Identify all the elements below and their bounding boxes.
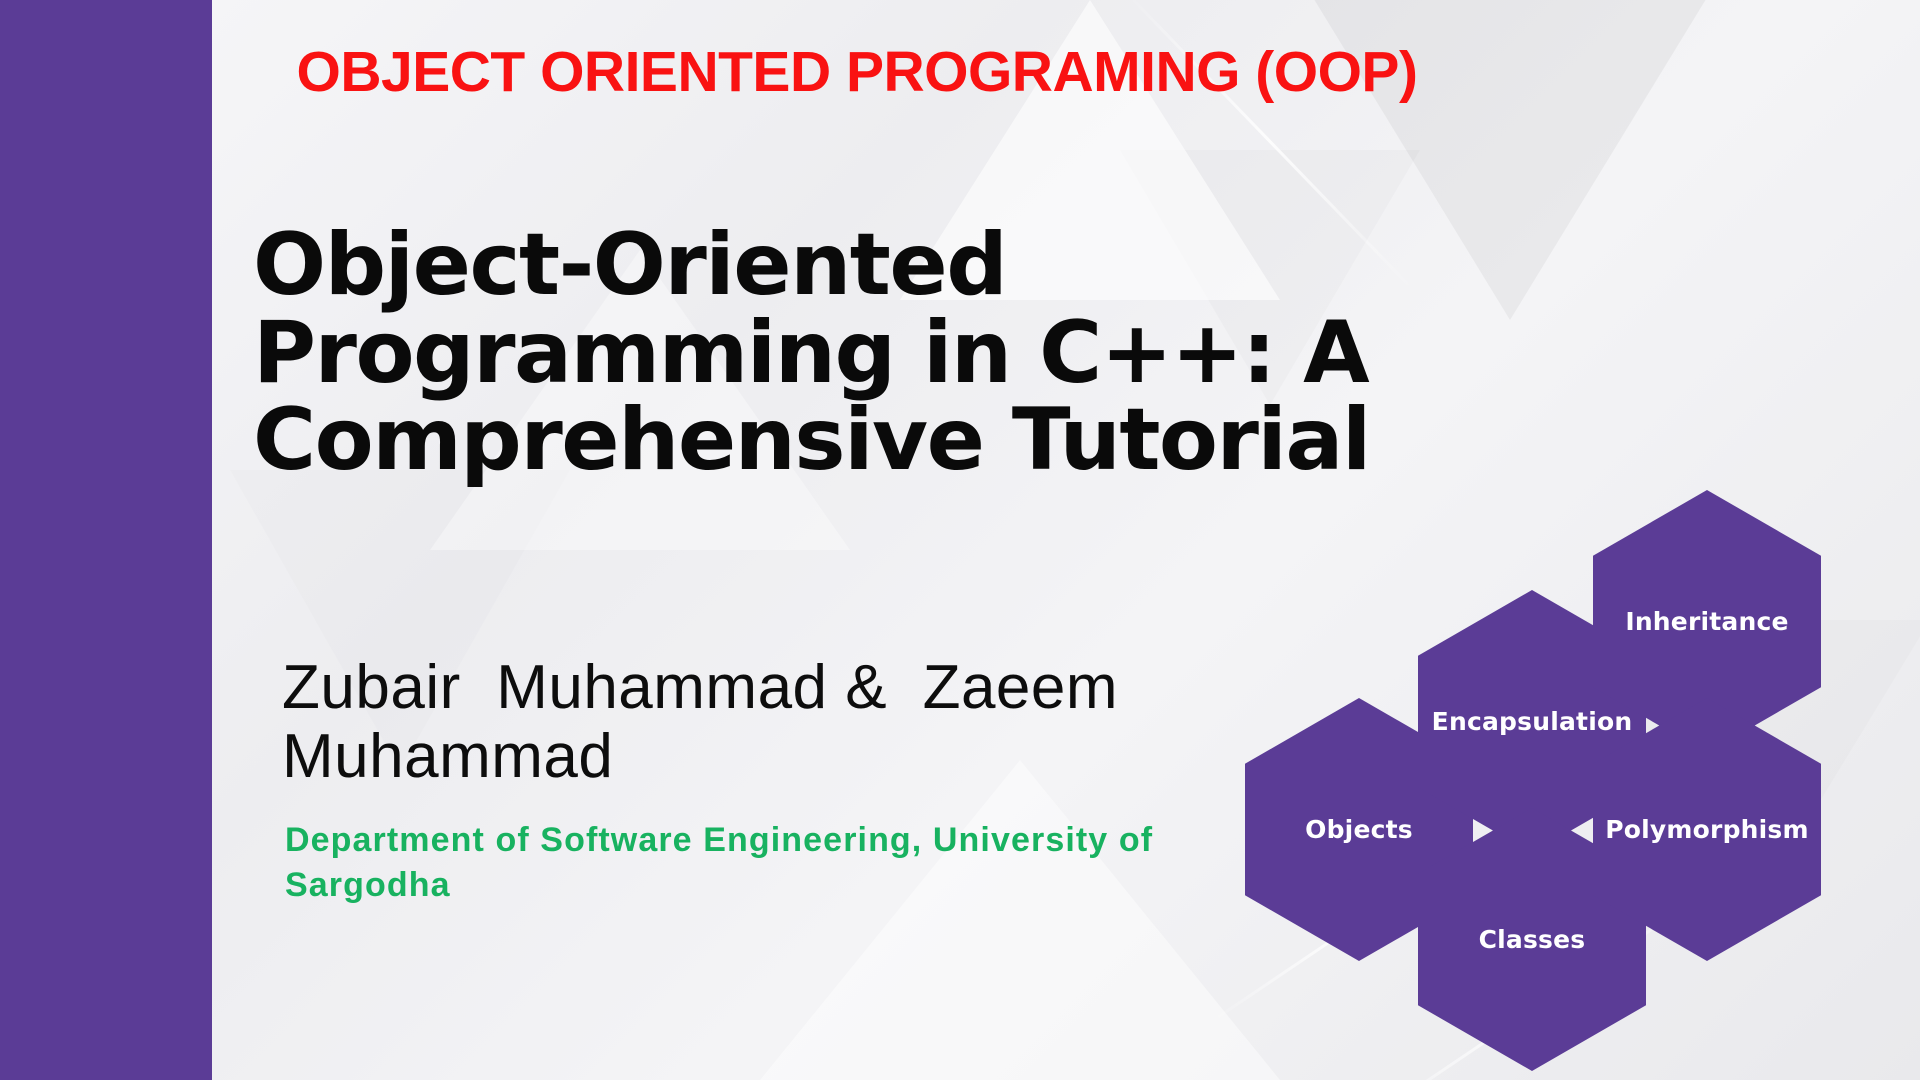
title-line-1: Object-Oriented bbox=[253, 222, 1553, 310]
title-line-3: Comprehensive Tutorial bbox=[253, 397, 1553, 485]
oop-pillars-hexagon-diagram: Objects Encapsulation Classes Inheritanc… bbox=[1245, 490, 1920, 1080]
presentation-slide: OBJECT ORIENTED PROGRAMING (OOP) Object-… bbox=[0, 0, 1920, 1080]
slide-kicker-heading: OBJECT ORIENTED PROGRAMING (OOP) bbox=[212, 43, 1502, 103]
author-names: Zubair Muhammad & Zaeem Muhammad bbox=[282, 654, 1332, 792]
decorative-triangle bbox=[760, 760, 1280, 1080]
page-title: Object-Oriented Programming in C++: A Co… bbox=[253, 222, 1553, 485]
title-line-2: Programming in C++: A bbox=[253, 310, 1553, 398]
left-accent-bar bbox=[0, 0, 212, 1080]
affiliation-text: Department of Software Engineering, Univ… bbox=[285, 818, 1285, 908]
